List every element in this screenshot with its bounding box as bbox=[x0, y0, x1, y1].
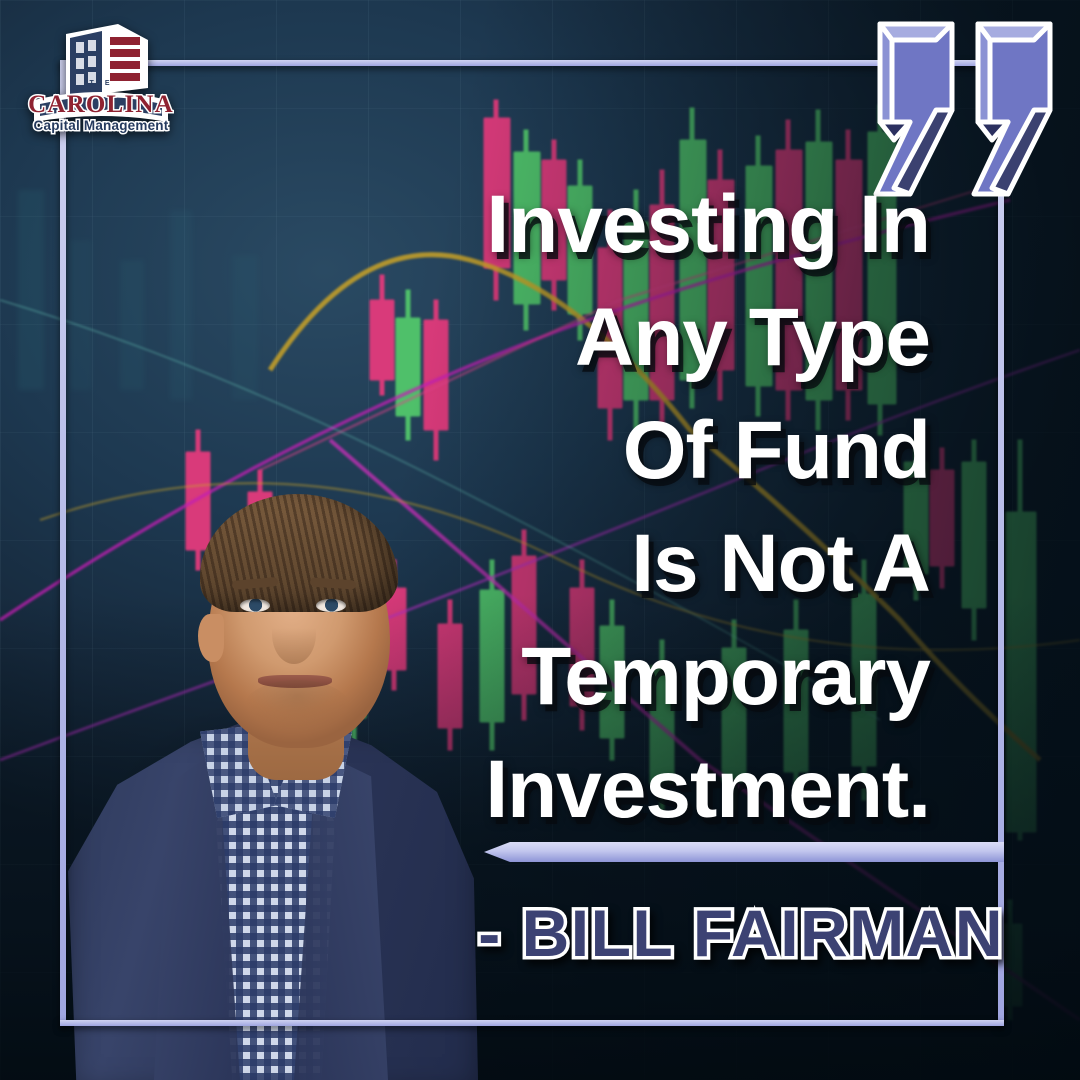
quote-graphic-canvas: THE CAROLINA Capital Management Investin… bbox=[0, 0, 1080, 1080]
frame-line-bottom bbox=[60, 1020, 1004, 1026]
frame-line-left bbox=[60, 60, 66, 1026]
quote-line: Any Type bbox=[330, 281, 930, 394]
logo-primary-name: CAROLINA bbox=[26, 92, 176, 117]
quote-line: Temporary bbox=[330, 620, 930, 733]
quote-line: Of Fund bbox=[330, 394, 930, 507]
quote-line: Investment. bbox=[330, 733, 930, 846]
frame-line-top bbox=[60, 60, 1004, 66]
quote-attribution: - BILL FAIRMAN bbox=[340, 898, 1004, 968]
logo-tagline: Capital Management bbox=[26, 119, 176, 133]
logo-the-label: THE bbox=[26, 80, 176, 87]
portrait-nose bbox=[272, 604, 316, 664]
quote-text: Investing In Any Type Of Fund Is Not A T… bbox=[330, 168, 930, 846]
quote-line: Investing In bbox=[330, 168, 930, 281]
portrait-ear bbox=[198, 614, 224, 662]
carolina-capital-management-logo[interactable]: THE CAROLINA Capital Management bbox=[26, 22, 176, 144]
portrait-eye-left bbox=[240, 599, 270, 612]
quote-line: Is Not A bbox=[330, 507, 930, 620]
